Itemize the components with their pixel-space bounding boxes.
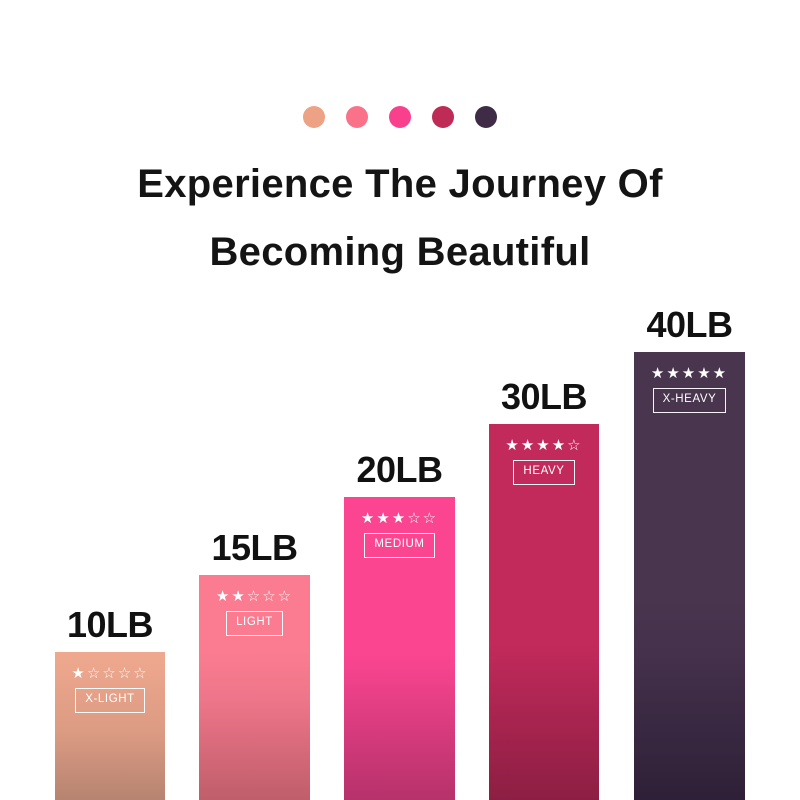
- resistance-level-badge: MEDIUM: [364, 533, 434, 558]
- bar-fill: ★★★★★X-HEAVY: [634, 352, 745, 800]
- bar-content: ★★★★☆HEAVY: [489, 424, 599, 485]
- bar-30lb[interactable]: 30LB★★★★☆HEAVY: [489, 424, 599, 800]
- bar-value-label: 15LB: [211, 527, 297, 569]
- bar-value-label: 40LB: [646, 304, 732, 346]
- bar-value-label: 10LB: [67, 604, 153, 646]
- bar-value-label: 30LB: [501, 376, 587, 418]
- bar-fill: ★☆☆☆☆X-LIGHT: [55, 652, 165, 800]
- star-rating-icon: ★★☆☆☆: [216, 589, 293, 604]
- star-rating-icon: ★★★☆☆: [361, 511, 438, 526]
- bar-10lb[interactable]: 10LB★☆☆☆☆X-LIGHT: [55, 652, 165, 800]
- bar-value-label: 20LB: [356, 449, 442, 491]
- bar-fill: ★★☆☆☆LIGHT: [199, 575, 310, 800]
- bar-bottom-shade: [634, 650, 745, 800]
- bar-bottom-shade: [199, 650, 310, 800]
- bar-fill: ★★★★☆HEAVY: [489, 424, 599, 800]
- bar-content: ★☆☆☆☆X-LIGHT: [55, 652, 165, 713]
- bar-bottom-shade: [344, 650, 455, 800]
- bar-fill: ★★★☆☆MEDIUM: [344, 497, 455, 800]
- bar-20lb[interactable]: 20LB★★★☆☆MEDIUM: [344, 497, 455, 800]
- bar-15lb[interactable]: 15LB★★☆☆☆LIGHT: [199, 575, 310, 800]
- resistance-level-badge: LIGHT: [226, 611, 283, 636]
- bar-content: ★★★★★X-HEAVY: [634, 352, 745, 413]
- product-infographic: Experience The Journey Of Becoming Beaut…: [0, 0, 800, 800]
- resistance-level-badge: HEAVY: [513, 460, 574, 485]
- bar-content: ★★☆☆☆LIGHT: [199, 575, 310, 636]
- bar-40lb[interactable]: 40LB★★★★★X-HEAVY: [634, 352, 745, 800]
- resistance-bar-chart: 10LB★☆☆☆☆X-LIGHT15LB★★☆☆☆LIGHT20LB★★★☆☆M…: [0, 0, 800, 800]
- resistance-level-badge: X-HEAVY: [653, 388, 727, 413]
- star-rating-icon: ★☆☆☆☆: [71, 666, 148, 681]
- bar-content: ★★★☆☆MEDIUM: [344, 497, 455, 558]
- star-rating-icon: ★★★★★: [651, 366, 728, 381]
- bar-bottom-shade: [489, 650, 599, 800]
- resistance-level-badge: X-LIGHT: [75, 688, 145, 713]
- star-rating-icon: ★★★★☆: [505, 438, 582, 453]
